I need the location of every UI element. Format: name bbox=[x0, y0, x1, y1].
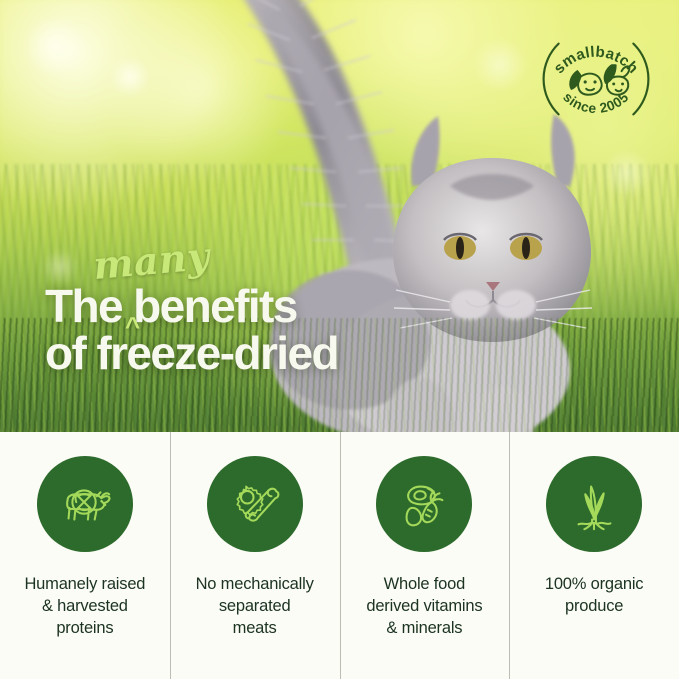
steak-carrot-egg-icon bbox=[393, 473, 455, 535]
benefit-icon-circle bbox=[376, 456, 472, 552]
benefit-caption: Humanely raised & harvested proteins bbox=[18, 574, 151, 639]
gear-and-bone-icon bbox=[224, 473, 286, 535]
benefit-icon-circle bbox=[546, 456, 642, 552]
hero-headline: many ^ The benefits of freeze-dried bbox=[45, 247, 338, 377]
smallbatch-logo[interactable]: smallbatch since 2005 bbox=[537, 20, 655, 138]
benefit-caption: 100% organic produce bbox=[539, 574, 650, 618]
sprouting-plant-icon bbox=[563, 473, 625, 535]
benefit-item[interactable]: 100% organic produce bbox=[509, 432, 679, 679]
logo-dog-face-icon bbox=[570, 71, 601, 95]
benefit-item[interactable]: Whole food derived vitamins & minerals bbox=[340, 432, 510, 679]
benefit-caption: No mechanically separated meats bbox=[190, 574, 320, 639]
benefits-strip: Humanely raised & harvested proteins bbox=[0, 432, 679, 679]
headline-line-1: The benefits bbox=[45, 283, 338, 330]
headline-caret-icon: ^ bbox=[125, 313, 140, 339]
headline-line-2: of freeze-dried bbox=[45, 330, 338, 377]
advertisement-screenshot: smallbatch since 2005 bbox=[0, 0, 679, 679]
hero-section: smallbatch since 2005 bbox=[0, 0, 679, 432]
benefit-item[interactable]: Humanely raised & harvested proteins bbox=[0, 432, 170, 679]
benefit-caption: Whole food derived vitamins & minerals bbox=[360, 574, 488, 639]
benefit-icon-circle bbox=[207, 456, 303, 552]
benefit-icon-circle bbox=[37, 456, 133, 552]
bokeh-highlight bbox=[20, 18, 90, 74]
cow-no-hormones-icon bbox=[54, 473, 116, 535]
benefit-item[interactable]: No mechanically separated meats bbox=[170, 432, 340, 679]
bokeh-highlight bbox=[108, 58, 152, 96]
